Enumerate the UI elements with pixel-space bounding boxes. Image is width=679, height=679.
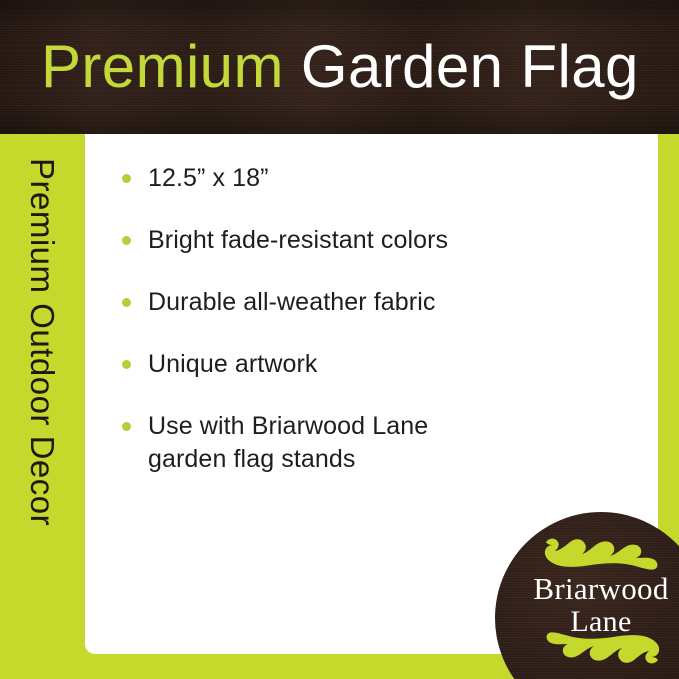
- page-title-rest: Garden Flag: [284, 33, 639, 100]
- list-item: Bright fade-resistant colors: [120, 224, 640, 257]
- bullet-icon: [122, 298, 131, 307]
- list-item-label: Use with Briarwood Lane garden flag stan…: [148, 410, 640, 476]
- sidebar-label: Premium Outdoor Decor: [0, 134, 85, 679]
- oak-leaf-icon: [543, 536, 661, 570]
- bullet-icon: [122, 422, 131, 431]
- brand-name-line1: Briarwood: [495, 572, 679, 605]
- sidebar-banner: Premium Outdoor Decor: [0, 134, 85, 679]
- list-item-label: Durable all-weather fabric: [148, 286, 640, 319]
- page-title-accent: Premium: [41, 33, 284, 100]
- list-item-label: 12.5” x 18”: [148, 162, 640, 195]
- oak-leaf-icon: [543, 632, 661, 666]
- product-infographic: Premium Garden Flag Premium Outdoor Deco…: [0, 0, 679, 679]
- header-band: Premium Garden Flag: [0, 0, 679, 134]
- list-item: Use with Briarwood Lane garden flag stan…: [120, 410, 640, 476]
- list-item-label: Unique artwork: [148, 348, 640, 381]
- list-item-label: Bright fade-resistant colors: [148, 224, 640, 257]
- bullet-icon: [122, 174, 131, 183]
- brand-logo-badge: Briarwood Lane: [495, 512, 679, 679]
- list-item: Durable all-weather fabric: [120, 286, 640, 319]
- bullet-icon: [122, 360, 131, 369]
- bullet-icon: [122, 236, 131, 245]
- list-item: Unique artwork: [120, 348, 640, 381]
- feature-list: 12.5” x 18” Bright fade-resistant colors…: [120, 162, 640, 476]
- list-item: 12.5” x 18”: [120, 162, 640, 195]
- page-title: Premium Garden Flag: [41, 31, 639, 103]
- brand-logo-inner: Briarwood Lane: [495, 512, 679, 679]
